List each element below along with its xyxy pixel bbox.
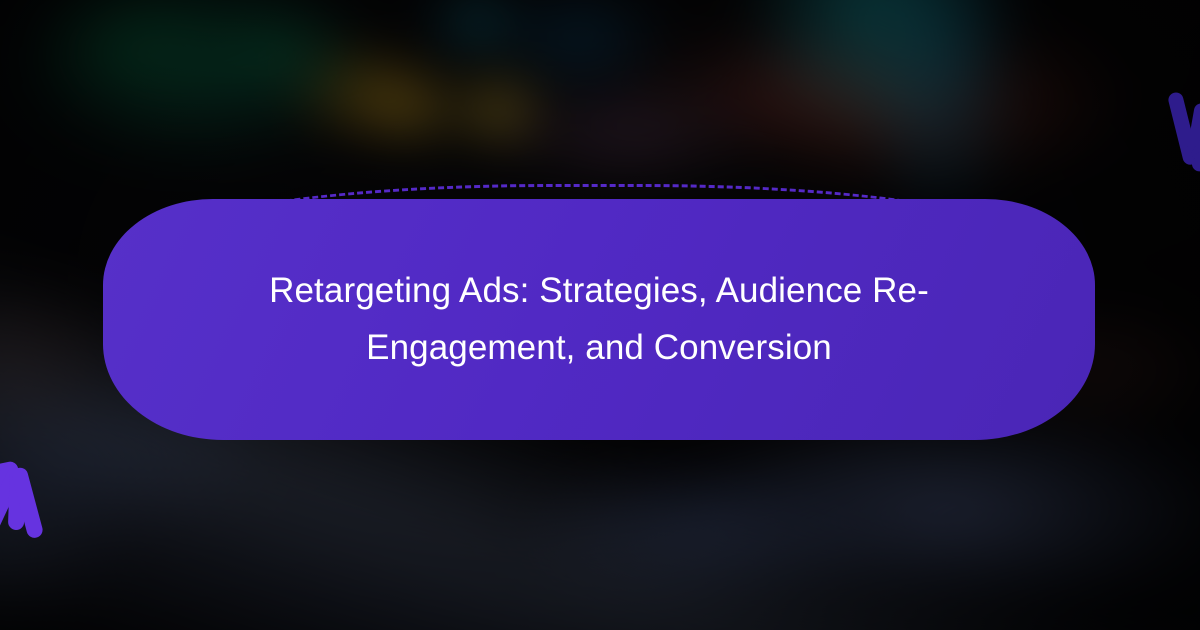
burst-ray-icon [1186, 101, 1200, 169]
headline-card: Retargeting Ads: Strategies, Audience Re… [103, 199, 1095, 440]
burst-ray-icon [1185, 102, 1200, 166]
burst-ray-icon [1167, 90, 1199, 165]
burst-ray-icon [0, 465, 25, 537]
share-card-canvas: Retargeting Ads: Strategies, Audience Re… [0, 0, 1200, 630]
burst-ray-icon [1191, 150, 1200, 171]
page-title: Retargeting Ads: Strategies, Audience Re… [269, 263, 929, 376]
burst-ray-icon [0, 461, 23, 514]
burst-ray-icon [0, 460, 20, 491]
burst-ray-icon [8, 468, 26, 531]
headline-card-container: Retargeting Ads: Strategies, Audience Re… [103, 184, 1095, 440]
burst-ray-icon [10, 466, 44, 540]
burst-ray-icon [1188, 125, 1200, 171]
burst-top-right-icon [1014, 0, 1200, 182]
burst-bottom-left-icon [0, 446, 194, 630]
